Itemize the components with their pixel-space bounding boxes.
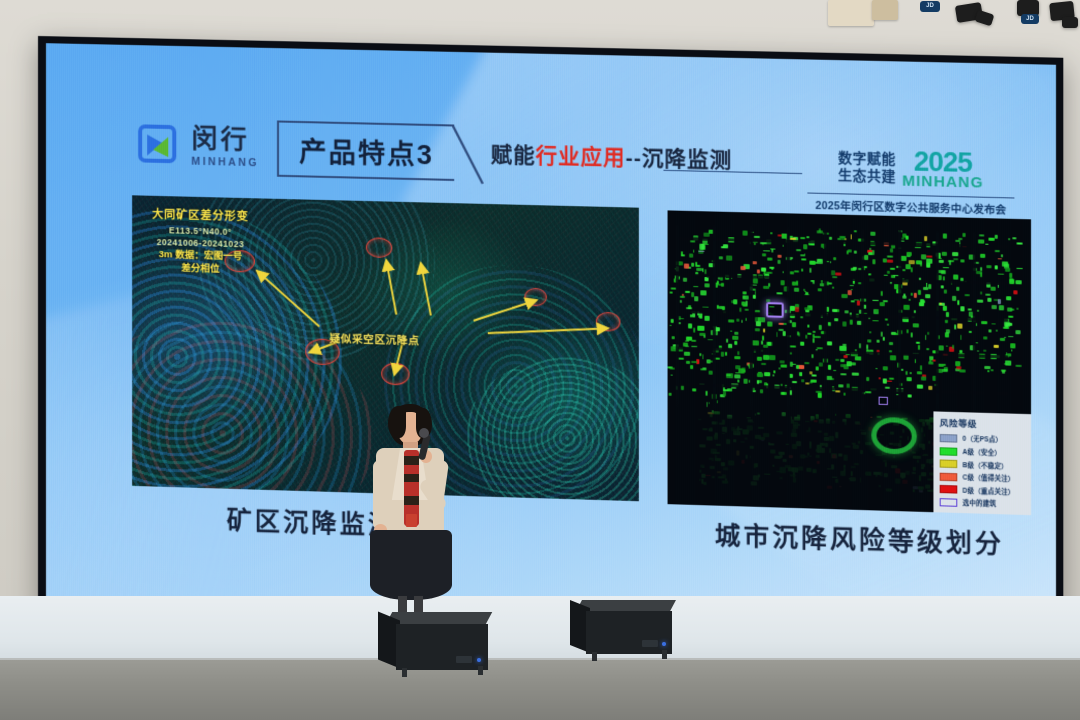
building-footprint bbox=[692, 388, 697, 391]
building-footprint bbox=[796, 249, 801, 251]
building-footprint bbox=[873, 259, 876, 264]
building-footprint bbox=[689, 253, 692, 258]
building-footprint bbox=[995, 265, 999, 269]
building-footprint bbox=[801, 258, 807, 261]
building-footprint bbox=[735, 340, 738, 345]
risk-legend-row[interactable]: C级（值得关注） bbox=[940, 472, 1030, 484]
building-footprint bbox=[688, 323, 691, 328]
building-footprint bbox=[772, 375, 775, 377]
building-footprint bbox=[816, 348, 822, 350]
building-footprint bbox=[901, 237, 904, 239]
building-footprint bbox=[866, 391, 871, 392]
park-ring bbox=[871, 417, 917, 455]
building-footprint bbox=[941, 270, 946, 274]
building-footprint bbox=[678, 357, 684, 360]
building-footprint bbox=[828, 365, 831, 370]
building-footprint bbox=[939, 259, 944, 263]
building-footprint bbox=[792, 381, 797, 383]
building-footprint bbox=[989, 238, 996, 241]
building-footprint bbox=[800, 255, 805, 257]
building-footprint bbox=[796, 280, 798, 285]
building-footprint bbox=[1016, 364, 1022, 367]
building-footprint bbox=[890, 268, 896, 270]
building-footprint bbox=[716, 281, 719, 285]
building-footprint bbox=[732, 336, 738, 340]
building-footprint bbox=[983, 337, 988, 340]
building-footprint bbox=[826, 307, 829, 312]
selected-building-marker[interactable] bbox=[879, 397, 888, 405]
risk-legend-swatch bbox=[940, 472, 958, 481]
minhang-logo bbox=[134, 122, 180, 169]
building-footprint bbox=[1001, 254, 1004, 257]
building-footprint bbox=[852, 373, 859, 376]
building-footprint bbox=[887, 271, 890, 274]
building-footprint bbox=[994, 250, 1000, 253]
building-footprint bbox=[833, 257, 836, 260]
building-footprint bbox=[991, 305, 997, 309]
building-footprint bbox=[793, 270, 798, 272]
building-footprint bbox=[707, 306, 709, 307]
building-footprint bbox=[1008, 316, 1013, 318]
insar-label-line-4: 3m 数据：宏图一号 bbox=[152, 248, 249, 264]
building-footprint bbox=[797, 332, 799, 336]
building-footprint bbox=[980, 254, 985, 258]
building-footprint bbox=[946, 330, 950, 334]
building-footprint bbox=[753, 278, 759, 283]
risk-legend-swatch bbox=[940, 485, 958, 494]
rig-badge: JD bbox=[1021, 14, 1039, 24]
building-footprint bbox=[903, 294, 906, 297]
building-footprint bbox=[733, 299, 737, 304]
building-footprint bbox=[843, 355, 847, 358]
building-footprint bbox=[914, 292, 917, 297]
building-footprint bbox=[695, 264, 701, 267]
building-footprint bbox=[762, 253, 767, 256]
building-footprint bbox=[805, 362, 810, 364]
building-footprint bbox=[925, 294, 930, 298]
building-footprint bbox=[754, 235, 760, 238]
risk-legend-row[interactable]: A级（安全） bbox=[940, 446, 1030, 458]
building-footprint bbox=[763, 345, 768, 348]
building-footprint bbox=[693, 250, 695, 253]
building-footprint bbox=[957, 324, 963, 329]
risk-legend-label: C级（值得关注） bbox=[962, 473, 1014, 484]
building-footprint bbox=[801, 269, 803, 272]
road-line bbox=[750, 227, 753, 410]
building-footprint bbox=[939, 346, 944, 351]
building-footprint bbox=[782, 331, 786, 337]
building-footprint bbox=[828, 322, 830, 325]
building-footprint bbox=[752, 341, 759, 346]
building-footprint bbox=[920, 299, 924, 304]
building-footprint bbox=[982, 321, 988, 324]
building-footprint bbox=[755, 328, 760, 331]
building-footprint bbox=[942, 306, 946, 311]
city-risk-map-panel[interactable]: 风险等级 0（无PS点）A级（安全）B级（不稳定）C级（值得关注）D级（重点关注… bbox=[668, 210, 1031, 515]
building-footprint bbox=[832, 308, 837, 311]
building-footprint bbox=[790, 346, 796, 348]
building-footprint bbox=[757, 269, 760, 273]
building-footprint bbox=[880, 291, 882, 296]
building-footprint bbox=[854, 250, 857, 254]
building-footprint bbox=[686, 307, 692, 309]
building-footprint bbox=[690, 365, 693, 370]
building-footprint bbox=[938, 364, 944, 367]
road-line bbox=[861, 229, 864, 412]
building-footprint bbox=[833, 370, 836, 371]
building-footprint bbox=[841, 294, 847, 299]
building-footprint bbox=[1010, 344, 1015, 349]
building-footprint bbox=[979, 234, 985, 237]
conference-stage-photo: JD JD 闵行 bbox=[0, 0, 1080, 720]
building-footprint bbox=[980, 272, 982, 277]
microphone-head-icon bbox=[419, 428, 429, 438]
risk-legend-rows: 0（无PS点）A级（安全）B级（不稳定）C级（值得关注）D级（重点关注）选中的建… bbox=[940, 433, 1030, 509]
road-line bbox=[713, 226, 716, 409]
risk-legend-label: 选中的建筑 bbox=[962, 498, 996, 508]
building-footprint bbox=[916, 342, 919, 344]
building-footprint bbox=[957, 300, 959, 305]
brand-name: 闵行 MINHANG bbox=[191, 126, 258, 170]
road-line bbox=[787, 228, 790, 411]
conference-slogan-line2: 生态共建 bbox=[838, 167, 896, 185]
building-footprint bbox=[692, 361, 698, 363]
building-footprint bbox=[883, 337, 885, 340]
building-footprint bbox=[977, 299, 983, 303]
building-footprint bbox=[960, 259, 965, 262]
building-footprint bbox=[849, 320, 853, 324]
building-footprint bbox=[757, 373, 763, 377]
building-footprint bbox=[939, 255, 941, 259]
building-footprint bbox=[742, 231, 748, 236]
building-footprint bbox=[1008, 336, 1013, 338]
building-footprint bbox=[818, 288, 822, 291]
building-footprint bbox=[816, 367, 819, 370]
building-footprint bbox=[882, 258, 886, 263]
building-footprint bbox=[803, 244, 807, 249]
building-footprint bbox=[767, 322, 772, 327]
risk-legend-swatch bbox=[940, 447, 958, 456]
building-footprint bbox=[924, 236, 928, 241]
building-footprint bbox=[795, 307, 799, 312]
building-footprint bbox=[779, 360, 784, 363]
building-footprint bbox=[847, 361, 852, 366]
risk-legend-title: 风险等级 bbox=[940, 417, 1030, 432]
building-footprint bbox=[846, 250, 848, 255]
building-footprint bbox=[887, 256, 893, 258]
presenter-speaker bbox=[352, 404, 470, 632]
slide-subtitle: 赋能行业应用--沉降监测 bbox=[491, 138, 732, 174]
building-footprint bbox=[885, 319, 888, 321]
rig-badge: JD bbox=[920, 1, 940, 12]
building-footprint bbox=[699, 244, 705, 250]
building-footprint bbox=[900, 256, 907, 261]
building-footprint bbox=[913, 310, 916, 313]
building-footprint bbox=[807, 325, 809, 328]
presenter-scarf-pattern bbox=[404, 456, 419, 465]
building-footprint bbox=[926, 282, 928, 287]
building-footprint bbox=[910, 372, 912, 374]
building-footprint bbox=[834, 318, 838, 321]
building-footprint bbox=[905, 235, 908, 240]
building-footprint bbox=[736, 319, 739, 322]
building-footprint bbox=[906, 329, 908, 334]
building-footprint bbox=[789, 390, 791, 395]
building-footprint bbox=[836, 359, 839, 361]
building-footprint bbox=[813, 330, 816, 332]
building-footprint bbox=[806, 236, 809, 238]
building-footprint bbox=[929, 361, 934, 364]
building-footprint bbox=[1012, 237, 1016, 239]
building-footprint bbox=[722, 306, 725, 310]
building-footprint bbox=[926, 258, 932, 263]
building-footprint bbox=[672, 336, 674, 339]
building-footprint bbox=[704, 335, 706, 338]
building-footprint bbox=[953, 258, 959, 260]
building-footprint bbox=[952, 295, 956, 300]
building-footprint bbox=[832, 287, 834, 289]
presenter-skirt bbox=[370, 530, 452, 600]
building-footprint bbox=[939, 302, 941, 305]
building-footprint bbox=[827, 341, 833, 346]
building-footprint bbox=[685, 290, 689, 293]
presenter-scarf-pattern bbox=[404, 496, 419, 505]
building-footprint bbox=[720, 277, 723, 280]
building-footprint bbox=[763, 285, 769, 288]
road-line bbox=[824, 228, 827, 411]
badge-slant-icon bbox=[452, 124, 485, 185]
building-footprint bbox=[1016, 242, 1022, 245]
building-footprint bbox=[995, 234, 997, 238]
building-footprint bbox=[957, 286, 960, 290]
building-footprint bbox=[778, 255, 782, 258]
insar-label-line-1: 大同矿区差分形变 bbox=[152, 208, 249, 226]
building-footprint bbox=[953, 275, 958, 280]
presenter-hair bbox=[388, 406, 406, 438]
building-footprint bbox=[794, 287, 799, 292]
conference-headline: 数字赋能 生态共建 2025 MINHANG bbox=[807, 147, 1014, 192]
building-footprint bbox=[721, 351, 724, 356]
building-footprint bbox=[814, 336, 821, 339]
building-footprint bbox=[913, 323, 919, 327]
building-footprint bbox=[980, 267, 982, 271]
feature-badge-label: 产品特点3 bbox=[299, 130, 434, 172]
insar-overlay-label: 大同矿区差分形变 E113.5°N40.0° 20241006-20241023… bbox=[152, 208, 249, 277]
building-footprint bbox=[1010, 273, 1012, 278]
building-footprint bbox=[682, 294, 684, 296]
building-footprint bbox=[804, 307, 810, 311]
building-footprint bbox=[831, 271, 834, 276]
building-footprint bbox=[726, 255, 732, 260]
road-line bbox=[973, 232, 976, 416]
building-footprint bbox=[799, 372, 802, 377]
building-footprint bbox=[841, 364, 846, 368]
building-footprint bbox=[890, 248, 893, 252]
conference-slogan: 数字赋能 生态共建 bbox=[838, 151, 896, 186]
risk-legend-swatch bbox=[940, 460, 958, 469]
building-footprint bbox=[679, 318, 685, 319]
building-footprint bbox=[764, 372, 771, 376]
building-footprint bbox=[940, 285, 944, 288]
building-footprint bbox=[763, 328, 765, 332]
building-footprint bbox=[790, 271, 795, 275]
building-footprint bbox=[871, 231, 875, 235]
building-footprint bbox=[681, 385, 684, 390]
building-footprint bbox=[943, 233, 947, 238]
building-footprint bbox=[790, 305, 795, 310]
building-footprint bbox=[999, 305, 1004, 310]
building-footprint bbox=[921, 376, 926, 380]
risk-legend-swatch bbox=[940, 498, 958, 507]
risk-legend-row[interactable]: 选中的建筑 bbox=[940, 498, 1030, 510]
building-footprint bbox=[693, 328, 695, 333]
building-footprint bbox=[669, 291, 672, 293]
acoustic-panel-icon bbox=[828, 0, 874, 26]
risk-legend-row[interactable]: B级（不稳定） bbox=[940, 459, 1030, 471]
caption-right: 城市沉降风险等级划分 bbox=[715, 516, 1004, 562]
risk-legend-label: D级（重点关注） bbox=[962, 485, 1014, 496]
building-footprint bbox=[757, 380, 759, 383]
building-footprint bbox=[847, 290, 851, 295]
building-footprint bbox=[866, 344, 868, 349]
building-footprint bbox=[692, 263, 695, 267]
stage-light-icon bbox=[1062, 17, 1078, 28]
building-footprint bbox=[690, 241, 695, 243]
building-footprint bbox=[741, 266, 746, 270]
building-footprint bbox=[889, 342, 893, 345]
presenter-badge bbox=[406, 514, 417, 527]
building-footprint bbox=[685, 340, 689, 342]
building-footprint bbox=[680, 252, 682, 257]
building-footprint bbox=[779, 367, 781, 369]
building-footprint bbox=[698, 325, 704, 330]
building-footprint bbox=[840, 373, 846, 375]
building-footprint bbox=[889, 377, 894, 379]
building-footprint bbox=[978, 240, 984, 244]
building-footprint bbox=[952, 252, 958, 256]
building-footprint bbox=[821, 280, 823, 283]
building-footprint bbox=[928, 284, 931, 289]
building-footprint bbox=[697, 268, 702, 271]
building-footprint bbox=[694, 296, 698, 301]
building-footprint bbox=[840, 359, 845, 363]
building-footprint bbox=[743, 370, 745, 373]
building-footprint bbox=[1008, 238, 1010, 240]
building-footprint bbox=[680, 295, 685, 297]
building-footprint bbox=[746, 300, 748, 305]
conference-year-block: 2025 MINHANG bbox=[902, 149, 984, 191]
building-footprint bbox=[782, 391, 785, 395]
building-footprint bbox=[988, 329, 991, 333]
building-footprint bbox=[817, 230, 823, 233]
building-footprint bbox=[779, 328, 784, 330]
building-footprint bbox=[889, 355, 896, 360]
building-footprint bbox=[830, 261, 832, 263]
risk-legend-swatch bbox=[940, 434, 958, 443]
building-footprint bbox=[844, 310, 849, 313]
presenter-scarf-pattern bbox=[404, 474, 419, 482]
building-footprint bbox=[857, 300, 861, 306]
building-footprint bbox=[837, 238, 842, 240]
building-footprint bbox=[949, 260, 951, 265]
building-footprint bbox=[906, 371, 908, 375]
building-footprint bbox=[800, 341, 804, 345]
building-footprint bbox=[812, 338, 814, 343]
building-footprint bbox=[680, 299, 682, 302]
building-footprint bbox=[819, 325, 822, 330]
building-footprint bbox=[916, 260, 922, 265]
insar-label-line-5: 差分相位 bbox=[152, 261, 249, 277]
building-footprint bbox=[879, 302, 885, 307]
building-footprint bbox=[987, 297, 991, 302]
building-footprint bbox=[843, 392, 845, 395]
presentation-slide: 闵行 MINHANG 产品特点3 赋能行业应用--沉降监测 bbox=[46, 43, 1056, 636]
risk-legend: 风险等级 0（无PS点）A级（安全）B级（不稳定）C级（值得关注）D级（重点关注… bbox=[933, 412, 1031, 515]
building-footprint bbox=[796, 365, 799, 369]
building-footprint bbox=[805, 292, 809, 296]
building-footprint bbox=[907, 394, 912, 397]
building-footprint bbox=[734, 332, 738, 335]
building-footprint bbox=[921, 255, 927, 260]
brand-name-en: MINHANG bbox=[191, 156, 258, 170]
building-footprint bbox=[683, 277, 687, 282]
building-footprint bbox=[902, 269, 905, 272]
building-footprint bbox=[1005, 360, 1011, 365]
building-footprint bbox=[907, 377, 912, 381]
risk-legend-label: B级（不稳定） bbox=[962, 460, 1007, 471]
building-footprint bbox=[810, 280, 814, 282]
building-footprint bbox=[881, 332, 883, 337]
brand-name-cn: 闵行 bbox=[191, 126, 258, 154]
building-footprint bbox=[789, 236, 792, 238]
building-footprint bbox=[727, 388, 732, 391]
building-footprint bbox=[1013, 290, 1017, 294]
building-footprint bbox=[962, 233, 965, 237]
building-footprint bbox=[864, 255, 868, 260]
building-footprint bbox=[1000, 338, 1005, 341]
building-footprint bbox=[757, 357, 762, 362]
conference-slogan-line1: 数字赋能 bbox=[838, 151, 896, 169]
building-footprint bbox=[946, 311, 950, 316]
building-footprint bbox=[684, 263, 689, 268]
building-footprint bbox=[1005, 268, 1010, 272]
building-footprint bbox=[867, 339, 872, 342]
building-footprint bbox=[917, 290, 921, 295]
risk-legend-row[interactable]: 0（无PS点） bbox=[940, 433, 1030, 445]
building-footprint bbox=[1016, 280, 1022, 285]
building-footprint bbox=[813, 281, 815, 283]
building-footprint bbox=[670, 367, 674, 370]
selected-building-marker[interactable] bbox=[766, 302, 784, 318]
building-footprint bbox=[869, 273, 872, 276]
subtitle-suffix: --沉降监测 bbox=[626, 147, 733, 173]
building-footprint bbox=[959, 370, 966, 373]
risk-legend-row[interactable]: D级（重点关注） bbox=[940, 485, 1030, 497]
building-footprint bbox=[769, 355, 775, 360]
building-footprint bbox=[927, 332, 930, 335]
building-footprint bbox=[760, 389, 763, 393]
building-footprint bbox=[719, 256, 724, 259]
stage-monitor-left bbox=[378, 612, 488, 674]
building-footprint bbox=[1002, 370, 1005, 373]
stage-front-panel bbox=[0, 660, 1080, 720]
building-footprint bbox=[699, 313, 702, 319]
building-footprint bbox=[883, 366, 888, 370]
subtitle-highlight: 行业应用 bbox=[536, 145, 626, 170]
building-footprint bbox=[806, 382, 810, 385]
building-footprint bbox=[704, 316, 709, 321]
building-footprint bbox=[684, 352, 691, 356]
